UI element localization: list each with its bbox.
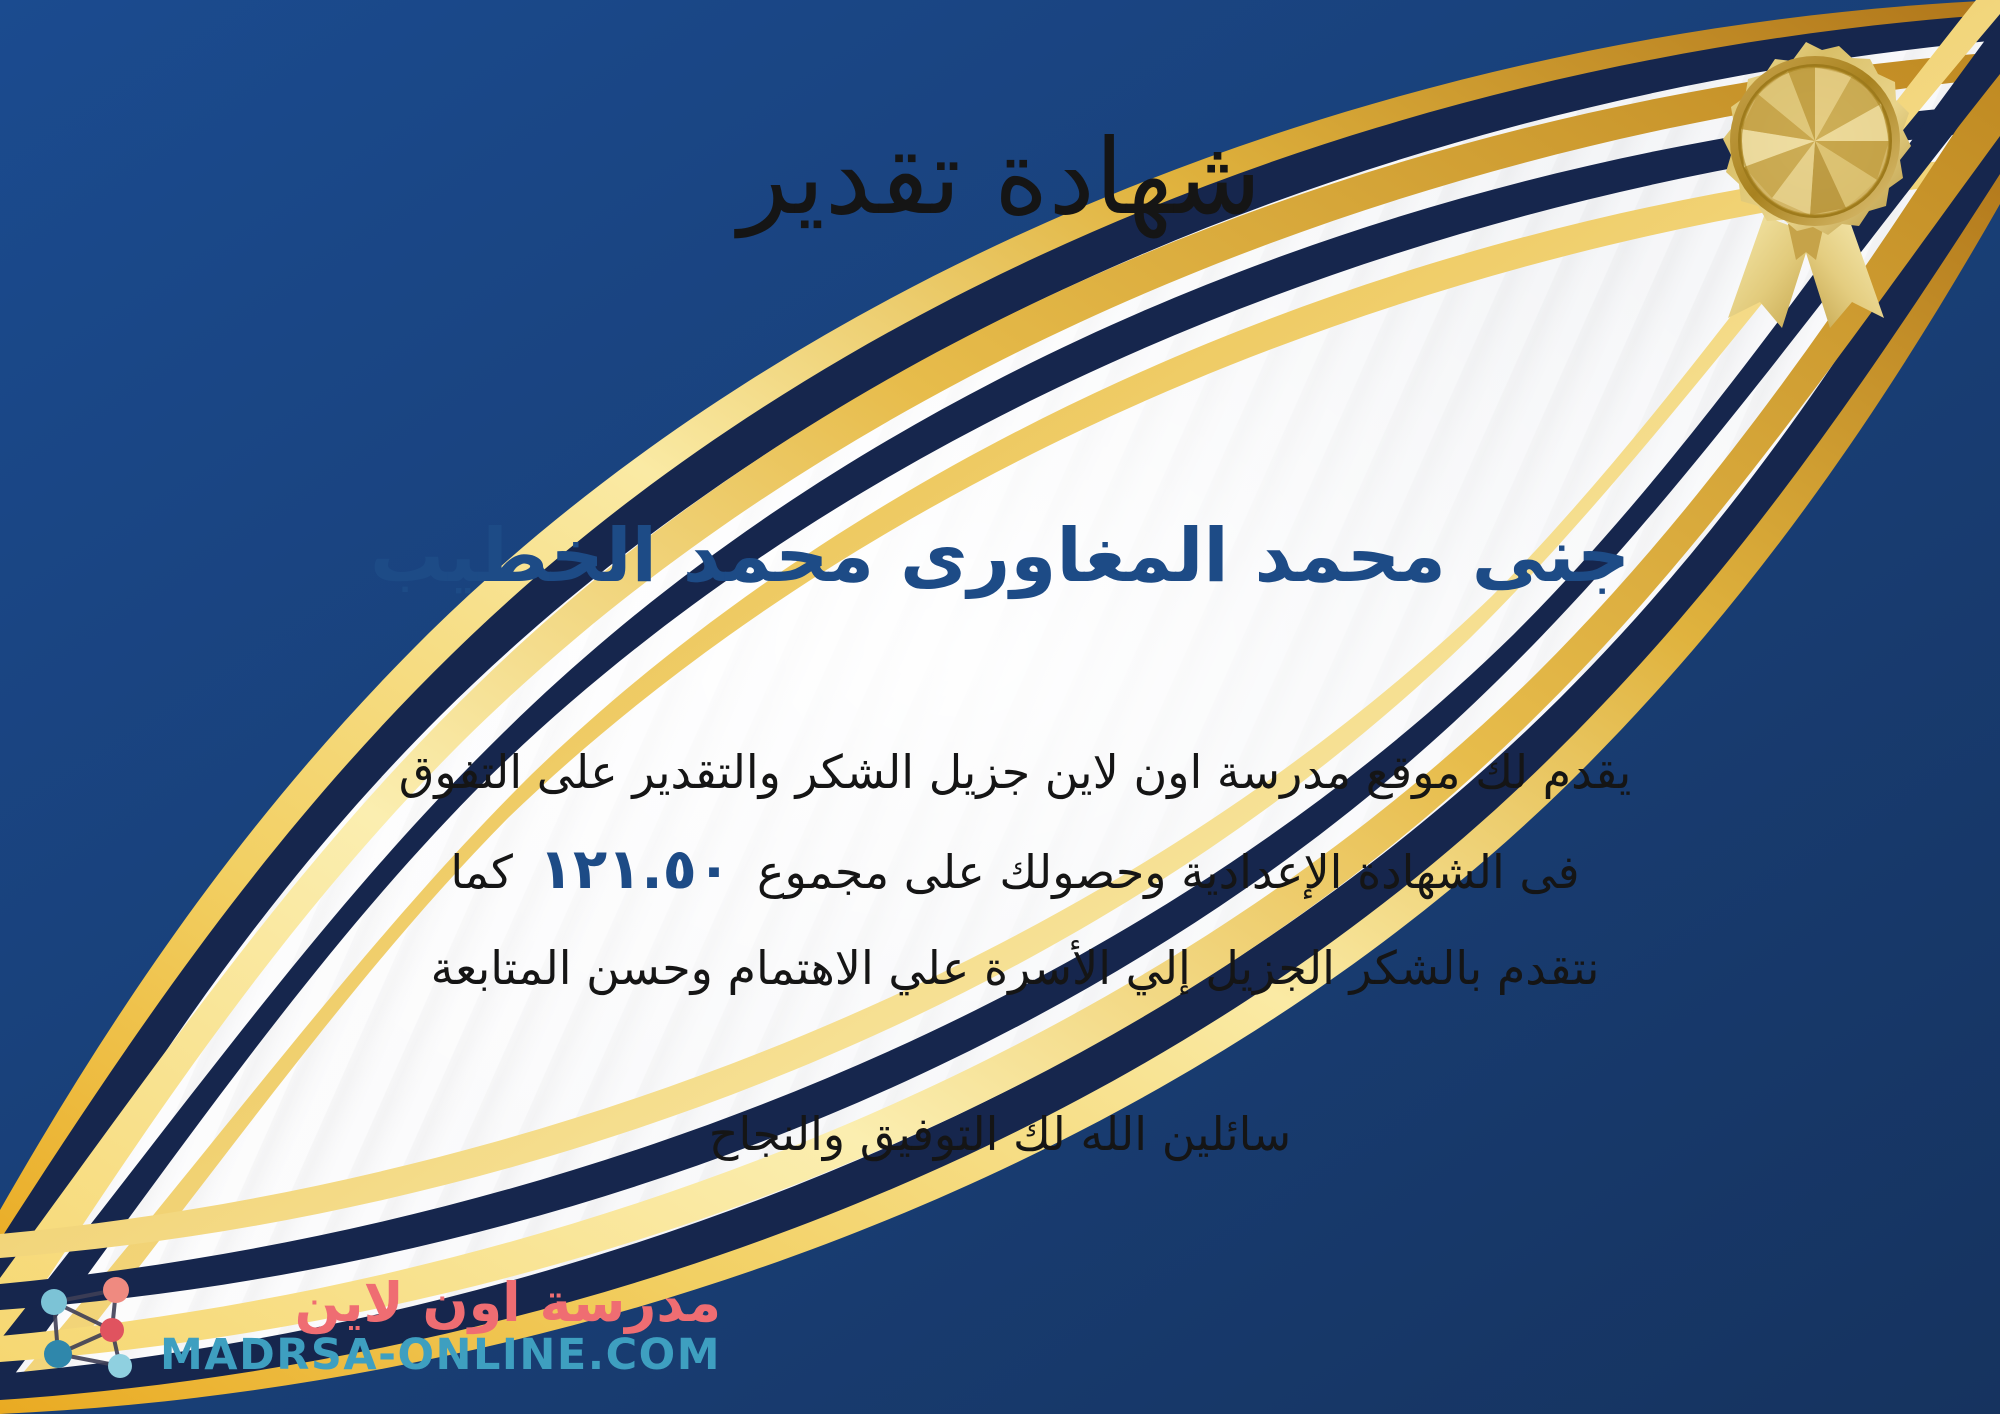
closing-wish: سائلين الله لك التوفيق والنجاح	[0, 1098, 2000, 1172]
brand-website-url[interactable]: MADRSA-ONLINE.COM	[160, 1332, 721, 1379]
brand-logo[interactable]: مدرسة اون لاين MADRSA-ONLINE.COM	[28, 1268, 721, 1386]
body-line-2-text-before: فى الشهادة الإعدادية وحصولك على مجموع	[757, 845, 1580, 899]
body-line-1: يقدم لك موقع مدرسة اون لاين جزيل الشكر و…	[170, 728, 1860, 816]
body-line-3: نتقدم بالشكر الجزيل إلي الأسرة علي الاهت…	[170, 924, 1860, 1012]
brand-arabic-name: مدرسة اون لاين	[295, 1275, 721, 1332]
certificate-canvas: شهادة تقدير جنى محمد المغاورى محمد الخطي…	[0, 0, 2000, 1414]
gold-medal-rosette-icon	[1686, 28, 1926, 328]
body-line-2: فى الشهادة الإعدادية وحصولك على مجموع١٢١…	[170, 816, 1860, 924]
brand-text-block: مدرسة اون لاين MADRSA-ONLINE.COM	[160, 1275, 721, 1379]
total-score-value: ١٢١.٥٠	[513, 837, 757, 902]
certificate-body: يقدم لك موقع مدرسة اون لاين جزيل الشكر و…	[170, 728, 1860, 1012]
network-nodes-icon	[28, 1268, 146, 1386]
recipient-name: جنى محمد المغاورى محمد الخطيب	[0, 510, 2000, 603]
body-line-2-text-after: كما	[450, 845, 513, 899]
